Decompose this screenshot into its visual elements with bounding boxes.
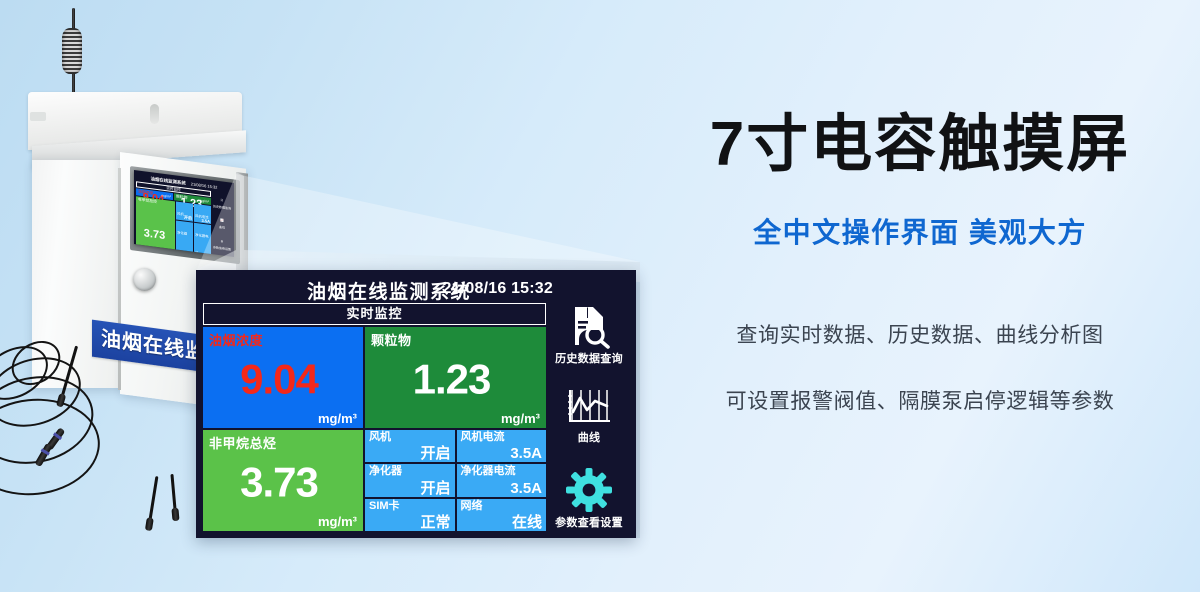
mini-status-cell: 风机开启 <box>176 201 193 221</box>
tile-value: 3.73 <box>203 461 355 503</box>
screen-header: 油烟在线监测系统 21/08/16 15:32 <box>203 277 629 303</box>
tile-unit: mg/m³ <box>318 514 357 529</box>
tile-value: 1.23 <box>365 358 538 400</box>
status-label: 净化器 <box>369 465 451 478</box>
sidebar-label: 历史数据查询 <box>555 350 623 366</box>
tile-oil-concentration[interactable]: 油烟浓度 9.04 mg/m³ <box>203 327 363 428</box>
tile-nmhc[interactable]: 非甲烷总烃 3.73 mg/m³ <box>203 430 363 531</box>
tile-unit: mg/m³ <box>501 411 540 426</box>
monitor-screen: 油烟在线监测系统 21/08/16 15:32 实时监控 油烟浓度 9.04 m… <box>196 270 636 538</box>
tile-value: 9.04 <box>203 358 355 400</box>
tile-particulate-matter[interactable]: 颗粒物 1.23 mg/m³ <box>365 327 546 428</box>
status-label: SIM卡 <box>369 500 451 513</box>
status-value: 正常 <box>420 515 450 531</box>
status-label: 风机 <box>369 431 451 444</box>
sidebar-label: 参数查看设置 <box>555 514 623 530</box>
tile-label: 颗粒物 <box>371 330 412 349</box>
mini-status-cell: 风机电流3.5A <box>194 204 211 224</box>
sidebar-item-history[interactable]: 历史数据查询 <box>555 305 623 366</box>
sidebar-item-curve[interactable]: 曲线 <box>566 388 612 445</box>
status-value: 开启 <box>420 481 450 497</box>
device-mini-screen: 油烟在线监测系统 21/08/16 15:32 实时监控 油烟浓度 9.04 m… <box>134 170 234 257</box>
mounting-slot <box>150 104 159 124</box>
status-value: 3.5A <box>510 481 542 497</box>
marketing-copy: 7寸电容触摸屏 全中文操作界面 美观大方 查询实时数据、历史数据、曲线分析图 可… <box>640 0 1200 592</box>
status-cell-fan[interactable]: 风机 开启 <box>365 430 455 462</box>
mini-sidebar-item-curve: 📈 曲线 <box>219 217 225 231</box>
feature-list: 查询实时数据、历史数据、曲线分析图 可设置报警阀值、隔膜泵启停逻辑等参数 <box>726 323 1115 416</box>
mini-tile-value: 3.73 <box>136 227 173 243</box>
mounting-notch <box>30 112 46 121</box>
screen-sidebar: 历史数据查询 <box>549 303 629 531</box>
status-cell-network[interactable]: 网络 在线 <box>457 499 547 531</box>
sidebar-item-settings[interactable]: 参数查看设置 <box>555 467 623 530</box>
status-value: 3.5A <box>510 446 542 462</box>
gear-icon <box>565 467 613 513</box>
screen-main-panel: 实时监控 油烟浓度 9.04 mg/m³ 颗粒物 1.23 mg/m³ <box>203 303 546 531</box>
page-subtitle: 全中文操作界面 美观大方 <box>753 211 1087 251</box>
tile-unit: mg/m³ <box>318 411 357 426</box>
status-cell-purifier-current[interactable]: 净化器电流 3.5A <box>457 464 547 496</box>
mini-sidebar-item-settings: ⚙ 参数查看设置 <box>213 236 231 251</box>
mini-status-grid: 风机开启 风机电流3.5A 净化器开启 净化器电流3.5A SIM卡正常 网络在… <box>176 201 211 257</box>
status-cell-purifier[interactable]: 净化器 开启 <box>365 464 455 496</box>
mini-sidebar: 🖹 历史数据查询 📈 曲线 ⚙ 参数查看设置 <box>212 191 232 256</box>
mini-sidebar-item-history: 🖹 历史数据查询 <box>213 195 231 210</box>
cable-bundle <box>0 355 175 535</box>
tile-label: 油烟浓度 <box>209 330 263 349</box>
status-cell-fan-current[interactable]: 风机电流 3.5A <box>457 430 547 462</box>
status-grid: 风机 开启 风机电流 3.5A 净化器 开启 <box>365 430 546 531</box>
section-title-realtime: 实时监控 <box>203 303 546 325</box>
feature-item: 查询实时数据、历史数据、曲线分析图 <box>726 323 1115 349</box>
enclosure-knob <box>133 268 156 291</box>
page-title: 7寸电容触摸屏 <box>710 112 1130 177</box>
document-search-icon <box>566 305 612 349</box>
mini-status-cell: 净化器电流3.5A <box>194 223 211 257</box>
status-value: 开启 <box>420 446 450 462</box>
curve-chart-icon <box>566 388 612 428</box>
status-value: 在线 <box>512 515 542 531</box>
status-cell-sim[interactable]: SIM卡 正常 <box>365 499 455 531</box>
sidebar-label: 曲线 <box>578 429 601 445</box>
antenna-coil <box>62 28 82 74</box>
status-label: 网络 <box>461 500 543 513</box>
feature-item: 可设置报警阀值、隔膜泵启停逻辑等参数 <box>726 389 1115 415</box>
screen-clock: 21/08/16 15:32 <box>443 280 553 298</box>
tile-label: 非甲烷总烃 <box>209 433 277 452</box>
status-label: 风机电流 <box>461 431 543 444</box>
status-label: 净化器电流 <box>461 465 543 478</box>
